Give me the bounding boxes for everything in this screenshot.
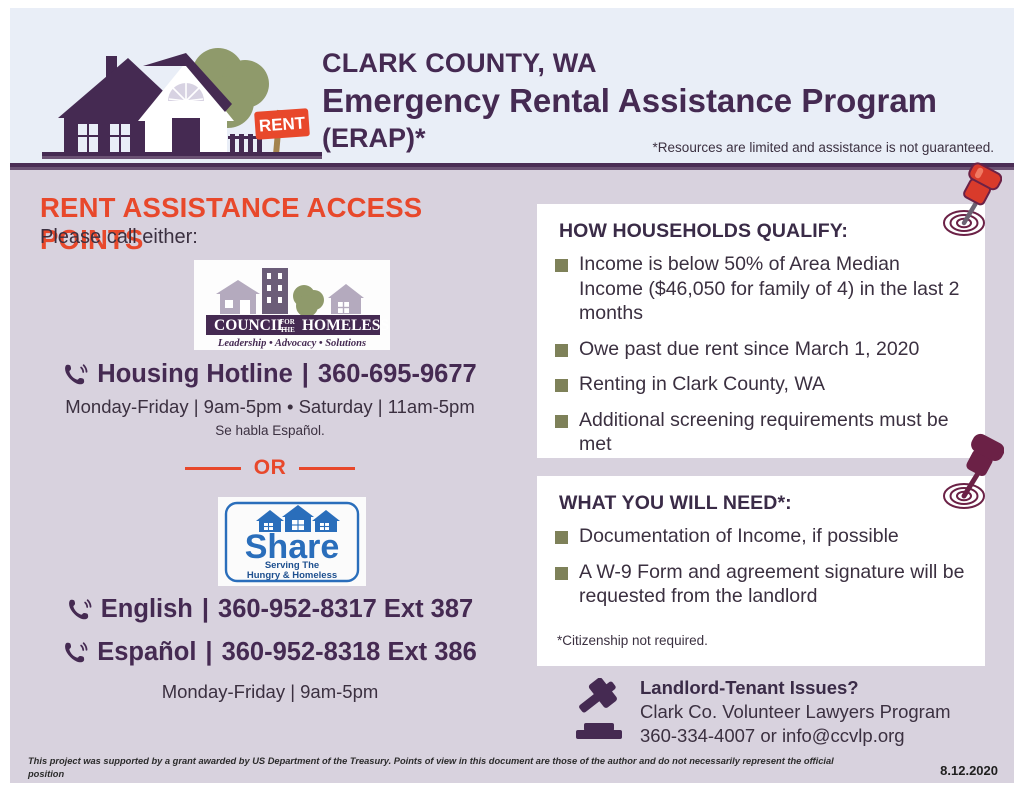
- footer-disclaimer: This project was supported by a grant aw…: [28, 755, 868, 783]
- hotline-hours: Monday-Friday | 9am-5pm • Saturday | 11a…: [10, 396, 530, 418]
- hotline-spanish-note: Se habla Español.: [10, 423, 530, 438]
- share-contact-number-english: 360-952-8317 Ext 387: [218, 595, 473, 624]
- share-logo: Share Serving The Hungry & Homeless: [218, 497, 366, 586]
- share-contact-separator-spanish: |: [205, 638, 212, 667]
- qualify-card-title: HOW HOUSEHOLDS QUALIFY:: [559, 220, 848, 243]
- list-item: Income is below 50% of Area Median Incom…: [555, 252, 967, 326]
- list-item: A W-9 Form and agreement signature will …: [555, 560, 967, 609]
- or-divider-label: OR: [254, 456, 287, 480]
- footer-date: 8.12.2020: [940, 763, 998, 778]
- hotline-number: 360-695-9677: [318, 360, 477, 389]
- phone-icon: [63, 362, 88, 387]
- header-title-line2: Emergency Rental Assistance Program: [322, 81, 994, 121]
- bullet-square-icon: [555, 344, 568, 357]
- list-item: Documentation of Income, if possible: [555, 524, 967, 549]
- bullet-square-icon: [555, 379, 568, 392]
- house-with-rent-sign-illustration: RENT: [42, 26, 322, 166]
- how-households-qualify-card: HOW HOUSEHOLDS QUALIFY: Income is below …: [537, 204, 985, 458]
- bullet-square-icon: [555, 259, 568, 272]
- footer-band: This project was supported by a grant aw…: [10, 752, 1014, 783]
- need-bullet-list: Documentation of Income, if possible A W…: [555, 524, 967, 620]
- need-bullet-1: Documentation of Income, if possible: [579, 524, 899, 549]
- share-contact-number-spanish: 360-952-8318 Ext 386: [222, 638, 477, 667]
- header-title-line1: CLARK COUNTY, WA: [322, 48, 994, 80]
- share-contact-label-spanish: Español: [97, 638, 196, 667]
- housing-hotline-row[interactable]: Housing Hotline | 360-695-9677: [10, 360, 530, 389]
- header-title-block: CLARK COUNTY, WA Emergency Rental Assist…: [322, 48, 994, 155]
- logo-word-for: FOR: [280, 318, 296, 326]
- phone-icon: [63, 640, 88, 665]
- left-column: RENT ASSISTANCE ACCESS POINTS Please cal…: [10, 170, 530, 750]
- share-logo-tagline-2: Hungry & Homeless: [247, 570, 337, 581]
- or-divider-right-bar: [299, 467, 355, 470]
- landlord-tenant-contact[interactable]: 360-334-4007 or info@ccvlp.org: [640, 725, 905, 747]
- logo-word-homeless: HOMELESS: [302, 317, 389, 334]
- red-pushpin-icon: [938, 160, 1002, 244]
- phone-icon: [67, 597, 92, 622]
- citizenship-note: *Citizenship not required.: [557, 633, 708, 648]
- need-card-title: WHAT YOU WILL NEED*:: [559, 492, 792, 515]
- logo-word-the: THE: [280, 326, 295, 334]
- logo-word-council: COUNCIL: [214, 317, 287, 334]
- list-item: Additional screening requirements must b…: [555, 408, 967, 457]
- bullet-square-icon: [555, 567, 568, 580]
- hotline-label: Housing Hotline: [97, 360, 292, 389]
- footer-disclaimer-line2: or policies of the US Department of the …: [28, 781, 868, 783]
- logo-tagline: Leadership • Advocacy • Solutions: [217, 338, 366, 349]
- share-hours: Monday-Friday | 9am-5pm: [10, 681, 530, 703]
- gavel-icon: [570, 678, 632, 746]
- header-band: RENT CLARK COUNTY, WA Emergency Rental A…: [10, 8, 1014, 169]
- need-bullet-2: A W-9 Form and agreement signature will …: [579, 560, 967, 609]
- share-contact-row-english[interactable]: English | 360-952-8317 Ext 387: [10, 595, 530, 624]
- list-item: Renting in Clark County, WA: [555, 372, 967, 397]
- qualify-bullet-3: Renting in Clark County, WA: [579, 372, 825, 397]
- landlord-tenant-block: Landlord-Tenant Issues? Clark Co. Volunt…: [570, 676, 990, 750]
- bullet-square-icon: [555, 531, 568, 544]
- landlord-tenant-org: Clark Co. Volunteer Lawyers Program: [640, 701, 951, 723]
- what-you-will-need-card: WHAT YOU WILL NEED*: Documentation of In…: [537, 476, 985, 666]
- hotline-separator: |: [302, 360, 309, 389]
- list-item: Owe past due rent since March 1, 2020: [555, 337, 967, 362]
- header-divider-rule: [10, 163, 1014, 170]
- footer-disclaimer-line1: This project was supported by a grant aw…: [28, 755, 868, 781]
- landlord-tenant-heading: Landlord-Tenant Issues?: [640, 677, 859, 699]
- council-for-the-homeless-logo: COUNCIL FOR THE HOMELESS Leadership • Ad…: [194, 260, 390, 350]
- share-contact-separator-english: |: [202, 595, 209, 624]
- purple-pushpin-icon: [940, 432, 1004, 518]
- qualify-bullet-2: Owe past due rent since March 1, 2020: [579, 337, 919, 362]
- header-footnote: *Resources are limited and assistance is…: [653, 140, 994, 155]
- poster-canvas: RENT CLARK COUNTY, WA Emergency Rental A…: [10, 8, 1014, 783]
- bullet-square-icon: [555, 415, 568, 428]
- share-contact-row-spanish[interactable]: Español | 360-952-8318 Ext 386: [10, 638, 530, 667]
- rent-sign-label: RENT: [258, 113, 306, 135]
- or-divider: OR: [10, 456, 530, 480]
- please-call-either-subtitle: Please call either:: [40, 226, 198, 249]
- qualify-bullet-list: Income is below 50% of Area Median Incom…: [555, 252, 967, 468]
- share-contact-label-english: English: [101, 595, 193, 624]
- qualify-bullet-4: Additional screening requirements must b…: [579, 408, 967, 457]
- qualify-bullet-1: Income is below 50% of Area Median Incom…: [579, 252, 967, 326]
- or-divider-left-bar: [185, 467, 241, 470]
